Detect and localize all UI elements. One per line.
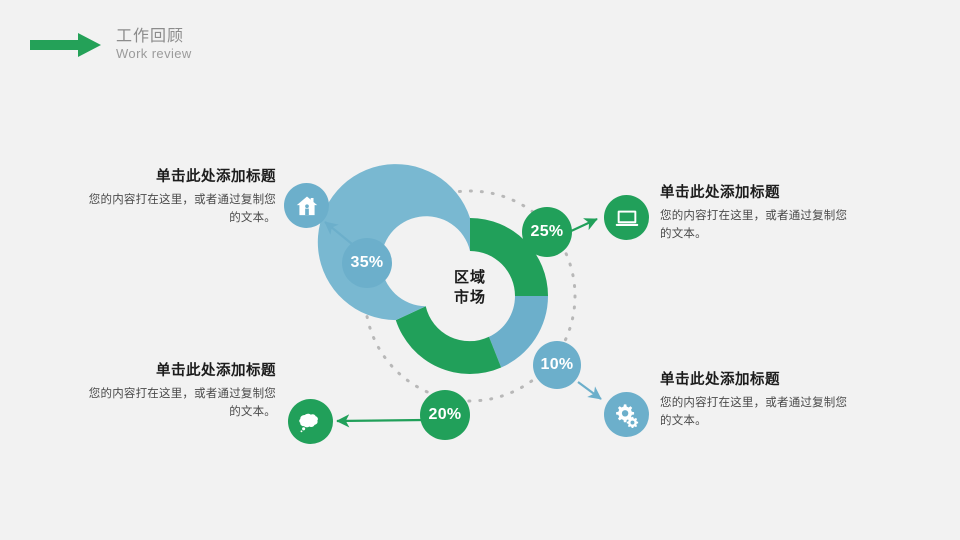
percent-badge-25[interactable]: 25%: [522, 207, 572, 257]
icon-circle-home[interactable]: [284, 183, 329, 228]
text-block-body: 您的内容打在这里，或者通过复制您的文本。: [660, 395, 856, 431]
text-block-title: 单击此处添加标题: [660, 371, 856, 390]
diagram-svg: [0, 0, 960, 540]
home-icon: [294, 193, 320, 219]
text-block-body: 您的内容打在这里，或者通过复制您的文本。: [80, 386, 276, 422]
gears-icon: [613, 401, 640, 428]
diagram-stage: 区域 市场 35% 25% 10% 20%: [0, 0, 960, 540]
text-block-title: 单击此处添加标题: [80, 362, 276, 381]
monitor-icon: [614, 205, 640, 231]
text-block-top-right: 单击此处添加标题 您的内容打在这里，或者通过复制您的文本。: [660, 184, 856, 243]
text-block-body: 您的内容打在这里，或者通过复制您的文本。: [80, 192, 276, 228]
text-block-bottom-left: 单击此处添加标题 您的内容打在这里，或者通过复制您的文本。: [80, 362, 276, 421]
connector-arrow-25: [569, 219, 597, 232]
donut-segment-35[interactable]: [318, 164, 470, 320]
slide-canvas: 工作回顾 Work review: [0, 0, 960, 540]
text-block-title: 单击此处添加标题: [80, 168, 276, 187]
percent-badge-35[interactable]: 35%: [342, 238, 392, 288]
text-block-body: 您的内容打在这里，或者通过复制您的文本。: [660, 208, 856, 244]
text-block-top-left: 单击此处添加标题 您的内容打在这里，或者通过复制您的文本。: [80, 168, 276, 227]
speech-cloud-icon: [297, 408, 324, 435]
text-block-bottom-right: 单击此处添加标题 您的内容打在这里，或者通过复制您的文本。: [660, 371, 856, 430]
icon-circle-gears[interactable]: [604, 392, 649, 437]
connector-arrow-10: [578, 382, 601, 399]
connector-arrow-20: [337, 420, 424, 421]
icon-circle-monitor[interactable]: [604, 195, 649, 240]
percent-badge-20[interactable]: 20%: [420, 390, 470, 440]
donut-segment-20[interactable]: [396, 306, 501, 374]
percent-badge-10[interactable]: 10%: [533, 341, 581, 389]
icon-circle-speech-cloud[interactable]: [288, 399, 333, 444]
text-block-title: 单击此处添加标题: [660, 184, 856, 203]
